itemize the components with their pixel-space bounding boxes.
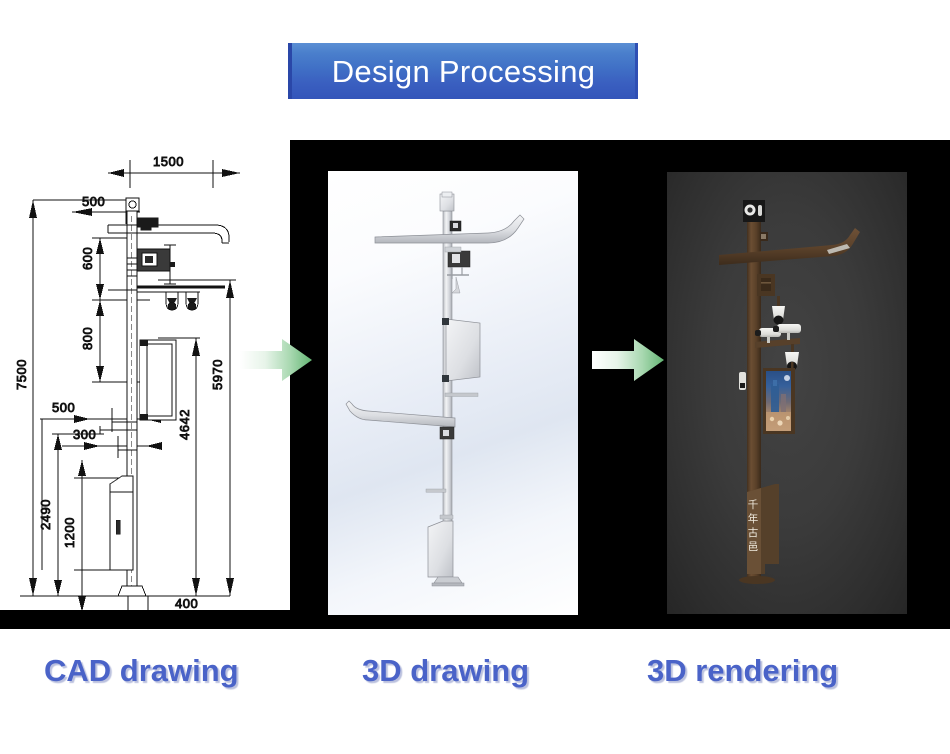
cad-dim-5970: 5970 xyxy=(210,359,225,390)
caption-3d-rendering: 3D rendering xyxy=(647,655,838,686)
base-inscription-char-3: 古 xyxy=(748,526,759,539)
flow-arrow-1 xyxy=(240,337,312,383)
cad-dim-4642: 4642 xyxy=(177,409,192,440)
cad-dim-1200: 1200 xyxy=(62,517,77,548)
three-d-rendering-svg: 千 年 古 邑 xyxy=(667,172,907,614)
page-title-banner: Design Processing xyxy=(288,43,638,99)
caption-cad-drawing: CAD drawing xyxy=(44,655,239,686)
page-title: Design Processing xyxy=(332,56,596,87)
base-inscription-char-2: 年 xyxy=(748,512,759,525)
arrow-right-icon xyxy=(592,339,664,381)
flow-arrow-2 xyxy=(592,337,664,383)
three-d-rendering-panel: 千 年 古 邑 xyxy=(667,172,907,614)
cad-dim-500-lower: 500 xyxy=(52,400,75,415)
cad-dim-800: 800 xyxy=(80,327,95,350)
cad-dim-1500: 1500 xyxy=(153,154,184,169)
three-d-drawing-panel xyxy=(328,171,578,615)
base-inscription-char-1: 千 xyxy=(748,499,759,511)
cad-dim-2490: 2490 xyxy=(38,499,53,530)
caption-3d-drawing: 3D drawing xyxy=(362,655,529,686)
cad-dim-400: 400 xyxy=(175,596,198,610)
three-d-drawing-svg xyxy=(328,171,578,615)
cad-dim-7500: 7500 xyxy=(14,359,29,390)
cad-dim-300: 300 xyxy=(73,427,96,442)
arrow-right-icon xyxy=(240,339,312,381)
cad-dim-500-upper: 500 xyxy=(82,194,105,209)
base-inscription-char-4: 邑 xyxy=(748,541,759,553)
cad-dim-600: 600 xyxy=(80,247,95,270)
